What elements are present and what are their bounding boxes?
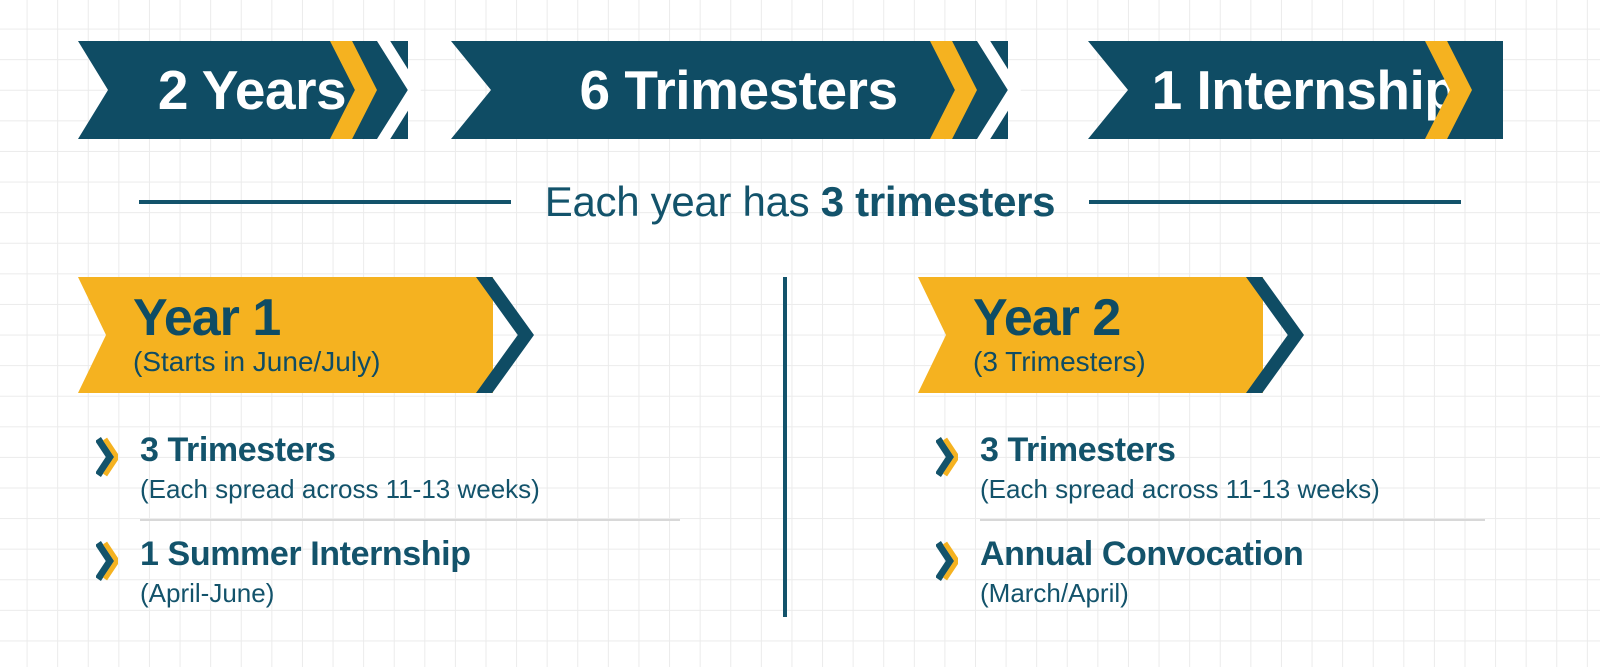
year-1-subtitle: (Starts in June/July): [133, 346, 493, 378]
chevron-bullet-icon: [936, 541, 958, 581]
list-item-title: Annual Convocation: [980, 537, 1518, 573]
subtitle-row: Each year has 3 trimesters: [0, 178, 1600, 226]
chevron-bullet-icon: [96, 541, 118, 581]
list-item: 1 Summer Internship (April-June): [78, 519, 718, 609]
top-banner-label: 6 Trimesters: [561, 63, 897, 118]
chevron-bullet-icon: [96, 437, 118, 477]
year-2-banner: Year 2 (3 Trimesters): [918, 277, 1518, 393]
list-divider: [140, 519, 680, 521]
list-item: 3 Trimesters (Each spread across 11-13 w…: [78, 429, 718, 505]
subtitle-emphasis: 3 trimesters: [821, 178, 1056, 225]
list-item-subtitle: (April-June): [140, 577, 718, 610]
column-year-2: Year 2 (3 Trimesters) 3 Trimesters (Each…: [918, 277, 1518, 609]
list-item-title: 3 Trimesters: [980, 433, 1518, 469]
year-1-title: Year 1: [133, 292, 493, 344]
top-banner-label: 1 Internship: [1134, 63, 1458, 118]
subtitle-text: Each year has 3 trimesters: [545, 178, 1056, 226]
infographic-page: 2 Years 6 Trimesters 1 Internship Each y…: [0, 0, 1600, 667]
subtitle-lead: Each year has: [545, 178, 821, 225]
column-divider: [783, 277, 787, 617]
list-item-subtitle: (Each spread across 11-13 weeks): [980, 473, 1518, 506]
top-banner-row: 2 Years 6 Trimesters 1 Internship: [78, 41, 1503, 139]
rule-left: [139, 200, 511, 204]
year-1-banner-body: Year 1 (Starts in June/July): [78, 277, 493, 393]
year-1-bullet-list: 3 Trimesters (Each spread across 11-13 w…: [78, 429, 718, 609]
year-2-banner-body: Year 2 (3 Trimesters): [918, 277, 1263, 393]
list-item-subtitle: (March/April): [980, 577, 1518, 610]
year-2-bullet-list: 3 Trimesters (Each spread across 11-13 w…: [918, 429, 1518, 609]
list-item: Annual Convocation (March/April): [918, 519, 1518, 609]
year-1-banner: Year 1 (Starts in June/July): [78, 277, 718, 393]
year-2-title: Year 2: [973, 292, 1263, 344]
chevron-bullet-icon: [936, 437, 958, 477]
list-item-subtitle: (Each spread across 11-13 weeks): [140, 473, 718, 506]
top-banner-6-trimesters: 6 Trimesters: [451, 41, 1008, 139]
list-item-title: 1 Summer Internship: [140, 537, 718, 573]
top-banner-label: 2 Years: [140, 63, 346, 118]
year-2-subtitle: (3 Trimesters): [973, 346, 1263, 378]
list-item-title: 3 Trimesters: [140, 433, 718, 469]
column-year-1: Year 1 (Starts in June/July) 3 Trimester…: [78, 277, 718, 609]
list-item: 3 Trimesters (Each spread across 11-13 w…: [918, 429, 1518, 505]
list-divider: [980, 519, 1485, 521]
rule-right: [1089, 200, 1461, 204]
